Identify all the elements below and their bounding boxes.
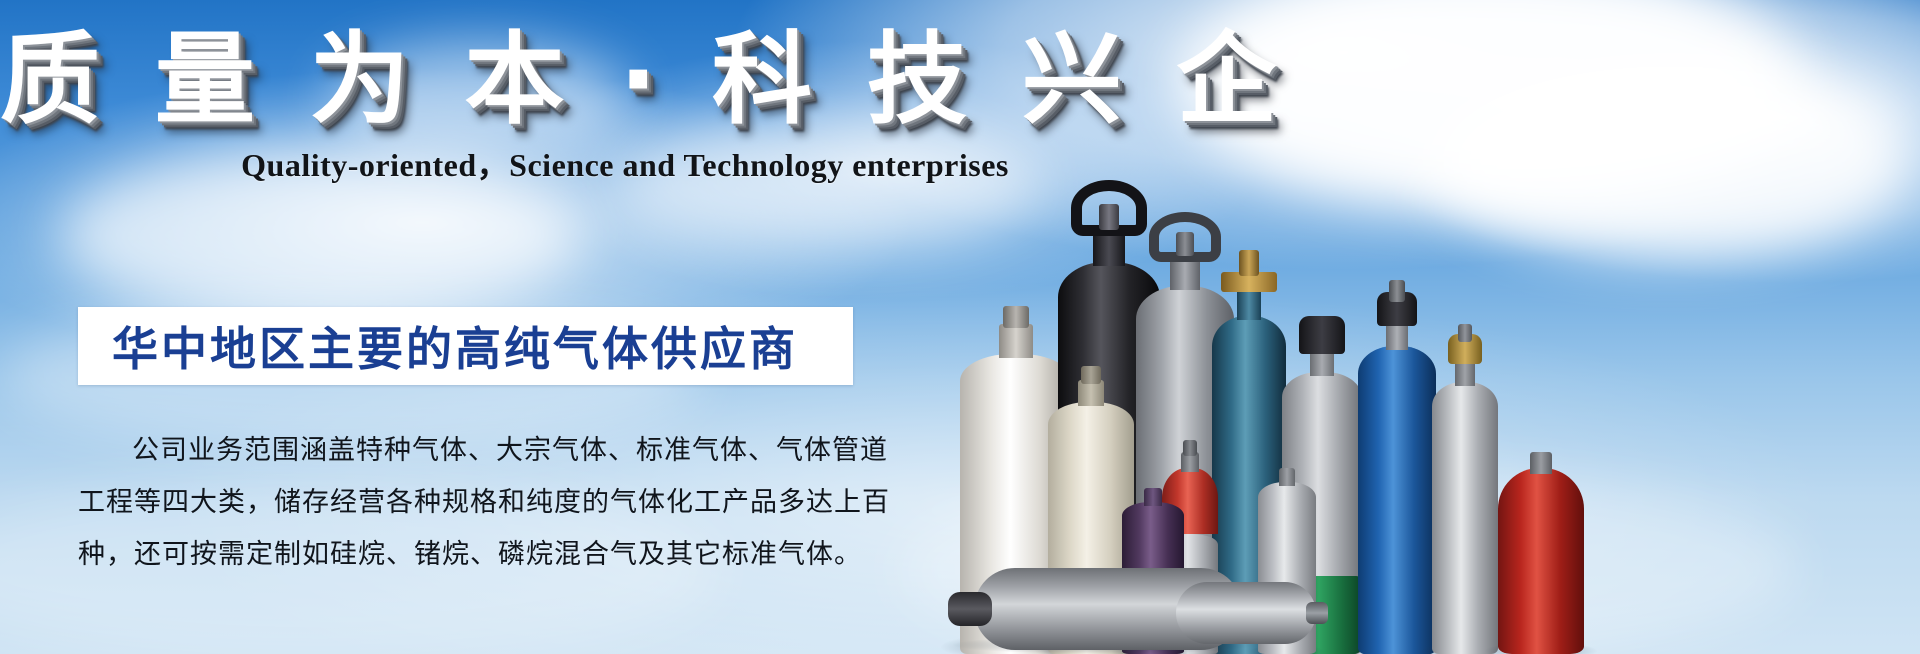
body-line: 种，还可按需定制如硅烷、锗烷、磷烷混合气及其它标准气体。 [78, 529, 868, 581]
red-round-cylinder [1498, 436, 1584, 654]
blue-tall-cylinder [1358, 276, 1436, 654]
aluminium-cylinder [1432, 324, 1498, 654]
gas-cylinder-cluster [940, 0, 1920, 654]
lying-silver-cylinder [1176, 582, 1326, 644]
body-line: 公司业务范围涵盖特种气体、大宗气体、标准气体、气体管道 [78, 425, 868, 477]
hero-banner: 质 量 为 本 · 科 技 兴 企 Quality-oriented，Scien… [0, 0, 1920, 654]
highlight-text: 华中地区主要的高纯气体供应商 [78, 313, 798, 379]
highlight-box: 华中地区主要的高纯气体供应商 [78, 307, 853, 385]
body-line: 工程等四大类，储存经营各种规格和纯度的气体化工产品多达上百 [78, 477, 868, 529]
body-copy: 公司业务范围涵盖特种气体、大宗气体、标准气体、气体管道 工程等四大类，储存经营各… [78, 425, 868, 581]
